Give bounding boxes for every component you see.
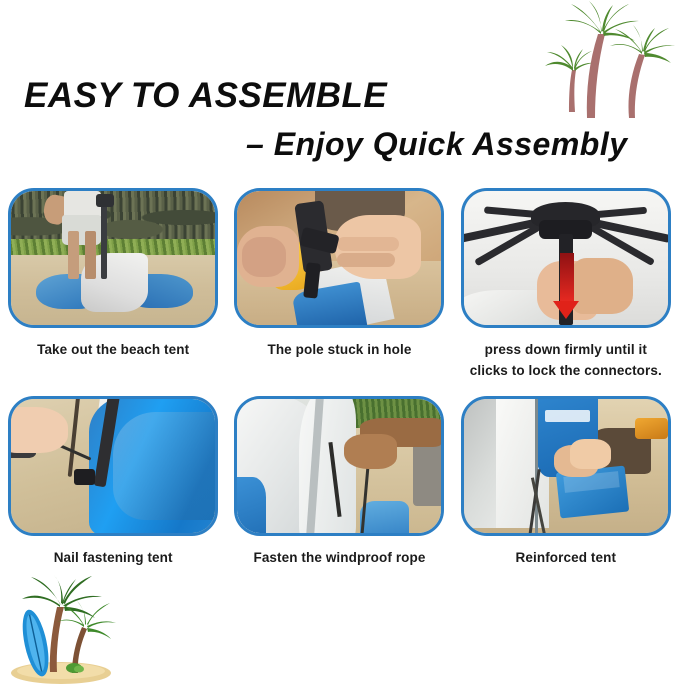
step-item-1: Take out the beach tent [0,188,226,396]
step-photo-6 [461,396,671,536]
step-photo-5 [234,396,444,536]
step-caption-3-line1: press down firmly until it [485,342,647,357]
press-down-arrow-icon [560,253,574,307]
island-surfboard-graphic [4,573,162,685]
step-caption-5: Fasten the windproof rope [232,548,447,569]
step-caption-1: Take out the beach tent [6,340,221,361]
step-photo-3 [461,188,671,328]
step-caption-3-line2: clicks to lock the connectors. [470,363,662,378]
step-photo-1 [8,188,218,328]
step-caption-6: Reinforced tent [458,548,673,569]
headline-block: EASY TO ASSEMBLE – Enjoy Quick Assembly [0,68,679,178]
press-down-arrowhead-icon [553,301,579,319]
assembly-steps-grid: Take out the beach tent The pole stu [0,188,679,583]
step-photo-4 [8,396,218,536]
step-caption-3: press down firmly until it clicks to loc… [458,340,673,382]
headline-line-secondary: – Enjoy Quick Assembly [246,126,628,163]
step-caption-4: Nail fastening tent [6,548,221,569]
headline-line-primary: EASY TO ASSEMBLE [24,76,387,116]
step-item-4: Nail fastening tent [0,396,226,583]
step-item-3: press down firmly until it clicks to loc… [453,188,679,396]
step-caption-2: The pole stuck in hole [232,340,447,361]
step-item-6: Reinforced tent [453,396,679,583]
step-item-5: Fasten the windproof rope [226,396,452,583]
step-photo-2 [234,188,444,328]
step-item-2: The pole stuck in hole [226,188,452,396]
